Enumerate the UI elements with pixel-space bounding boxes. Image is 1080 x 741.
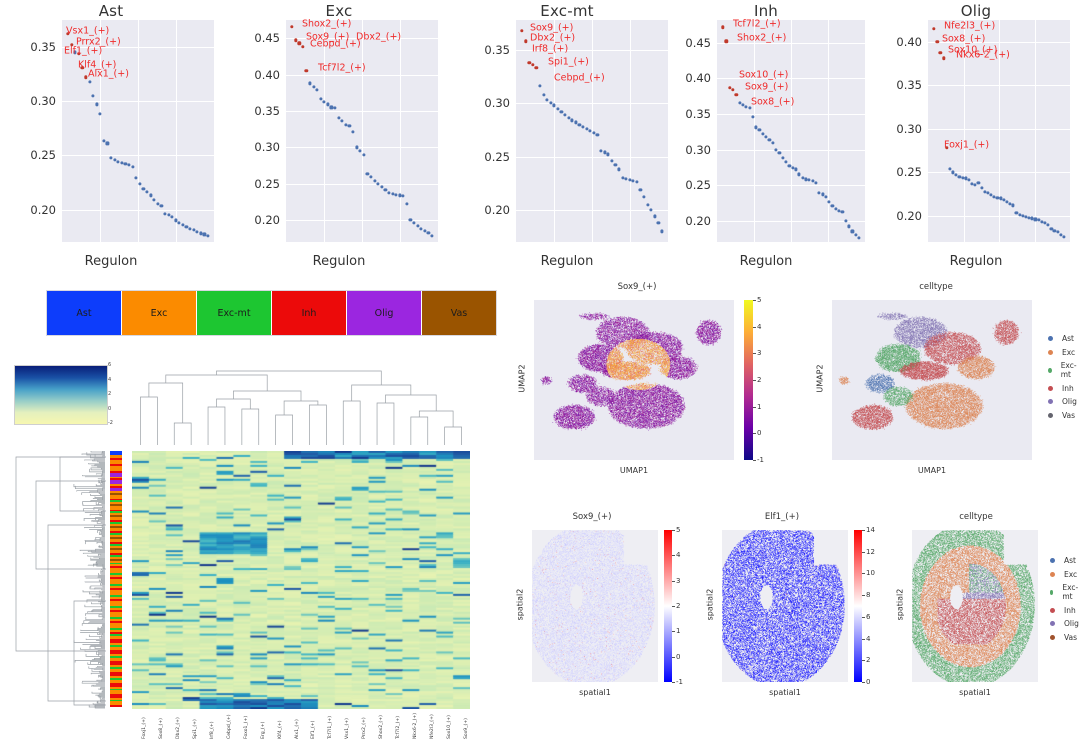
- regulon-point: [758, 129, 761, 132]
- celltype-swatch-exc-mt: Exc-mt: [197, 291, 272, 335]
- regulon-point: [794, 168, 797, 171]
- regulon-point: [774, 148, 777, 151]
- colorbar-tick: 6: [862, 613, 870, 621]
- regulon-point: [1056, 230, 1059, 233]
- plot-title: Elf1_(+): [682, 512, 882, 522]
- colorbar-tick: 2: [672, 602, 680, 610]
- y-axis-label: UMAP2: [816, 361, 825, 397]
- legend-swatch-icon: [1048, 368, 1052, 373]
- colorbar-tick: 3: [753, 349, 761, 357]
- heatmap-column-label: Elf1_(+): [311, 721, 316, 739]
- legend-item-ast[interactable]: Ast: [1050, 556, 1080, 565]
- celltype-legend: AstExcExc-mtInhOligVas: [1048, 334, 1080, 424]
- gridline-v: [754, 20, 755, 242]
- plot-colorbar: 14121086420: [854, 530, 862, 682]
- regulon-label: Alx1_(+): [88, 69, 129, 80]
- y-tick-label: 0.25: [685, 178, 711, 192]
- y-tick-label: 0.35: [30, 40, 56, 54]
- legend-item-inh[interactable]: Inh: [1048, 384, 1080, 393]
- legend-label: Vas: [1062, 411, 1075, 420]
- regulon-label: Dbx2_(+): [530, 33, 575, 44]
- regulon-point: [1062, 235, 1065, 238]
- regulon-point: [171, 215, 174, 218]
- y-tick-label: 0.20: [685, 214, 711, 228]
- y-tick-label: 0.20: [30, 203, 56, 217]
- highlighted-regulon-point: [301, 45, 304, 48]
- heatmap-column-label: Foxo1_(+): [244, 716, 249, 739]
- x-axis-label: spatial1: [532, 688, 658, 697]
- celltype-swatch-label: Exc-mt: [217, 308, 250, 319]
- colorbar-gradient: [744, 300, 753, 460]
- regulon-point: [366, 173, 369, 176]
- plot-title: celltype: [872, 512, 1080, 522]
- rank-plot-title: Olig: [872, 2, 1080, 20]
- regulon-point: [844, 219, 847, 222]
- legend-label: Olig: [1064, 619, 1079, 628]
- colorbar-tick: -2: [108, 420, 113, 426]
- celltype-swatch-label: Olig: [375, 308, 394, 319]
- regulon-label: Sox10_(+): [739, 69, 788, 80]
- rank-plot-title: Inh: [655, 2, 877, 20]
- rank-plot-inh: InhTcf7l2_(+)Shox2_(+)Sox10_(+)Sox9_(+)S…: [655, 0, 877, 275]
- y-axis-label: spatial2: [516, 587, 525, 623]
- celltype-legend: AstExcExc-mtInhOligVas: [1050, 556, 1080, 646]
- y-tick-label: 0.30: [484, 96, 510, 110]
- gridline-v: [176, 20, 177, 242]
- regulon-point: [948, 167, 951, 170]
- colorbar-tick: 4: [672, 551, 680, 559]
- legend-label: Olig: [1062, 397, 1077, 406]
- legend-swatch-icon: [1048, 336, 1053, 341]
- x-axis-label: spatial1: [722, 688, 848, 697]
- colorbar-gradient: [664, 530, 672, 682]
- row-celltype-colorbar: [110, 451, 122, 709]
- colorbar-tick: 5: [753, 296, 761, 304]
- regulon-point: [149, 194, 152, 197]
- x-axis-label: Regulon: [0, 254, 222, 269]
- y-tick-label: 0.35: [685, 107, 711, 121]
- regulon-point: [380, 185, 383, 188]
- regulon-point: [607, 153, 610, 156]
- regulon-point: [326, 103, 329, 106]
- gridline-v: [828, 20, 829, 242]
- regulon-label: Spi1_(+): [548, 56, 589, 67]
- regulon-point: [814, 181, 817, 184]
- regulon-point: [138, 182, 141, 185]
- legend-swatch-icon: [1048, 413, 1053, 418]
- regulon-point: [553, 104, 556, 107]
- y-tick-label: 0.20: [896, 209, 922, 223]
- x-axis-label: Regulon: [456, 254, 678, 269]
- legend-swatch-icon: [1048, 350, 1053, 355]
- highlighted-regulon-point: [932, 27, 935, 30]
- regulon-point: [781, 156, 784, 159]
- legend-item-ast[interactable]: Ast: [1048, 334, 1080, 343]
- colorbar-tick: 0: [672, 653, 680, 661]
- heatmap-colorbar-ticks: 6420-2: [108, 365, 128, 423]
- column-dendrogram: [132, 369, 470, 445]
- colorbar-tick: 5: [672, 526, 680, 534]
- regulon-point: [308, 82, 311, 85]
- regulon-point: [841, 211, 844, 214]
- heatmap-column-label: Sox8_(+): [159, 718, 164, 739]
- regulon-point: [206, 234, 209, 237]
- y-tick-label: 0.35: [254, 104, 280, 118]
- colorbar-gradient: [854, 530, 862, 682]
- heatmap-column-label: Nkx6-2_(+): [413, 713, 418, 739]
- highlighted-regulon-point: [721, 25, 724, 28]
- legend-label: Ast: [1064, 556, 1076, 565]
- regulon-point: [967, 179, 970, 182]
- colorbar-tick: 1: [753, 403, 761, 411]
- regulon-point: [765, 135, 768, 138]
- legend-item-exc-mt[interactable]: Exc-mt: [1048, 361, 1080, 379]
- legend-swatch-icon: [1050, 590, 1053, 595]
- heatmap-column-label: Foxj1_(+): [142, 717, 147, 739]
- regulon-point: [646, 203, 649, 206]
- regulon-point: [798, 173, 801, 176]
- regulon-point: [316, 88, 319, 91]
- regulon-label: Cebpd_(+): [554, 73, 605, 84]
- regulon-point: [828, 201, 831, 204]
- regulon-point: [556, 107, 559, 110]
- heatmap-column-label: Tcf7l1_(+): [328, 716, 333, 739]
- rank-plot-ast: AstVsx1_(+)Prrx2_(+)Elf1_(+)Klf4_(+)Alx1…: [0, 0, 222, 275]
- legend-swatch-icon: [1050, 558, 1055, 563]
- y-tick-label: 0.30: [254, 140, 280, 154]
- heatmap-column-label: Dbx2_(+): [176, 717, 181, 739]
- regulon-point: [409, 219, 412, 222]
- y-tick-label: 0.35: [896, 78, 922, 92]
- y-tick-label: 0.25: [30, 148, 56, 162]
- legend-item-vas[interactable]: Vas: [1050, 633, 1080, 642]
- rank-plot-title: Exc-mt: [456, 2, 678, 20]
- colorbar-tick: 4: [108, 377, 111, 383]
- regulon-point: [857, 236, 860, 239]
- rank-plot-title: Ast: [0, 2, 222, 20]
- regulon-point: [1047, 223, 1050, 226]
- legend-label: Exc: [1062, 348, 1075, 357]
- heatmap-column-label: Alx1_(+): [295, 719, 300, 739]
- gridline-v: [362, 20, 363, 242]
- heatmap-column-label: Tcf7l2_(+): [396, 716, 401, 739]
- celltype-swatch-label: Inh: [302, 308, 317, 319]
- row-dendrogram: [14, 451, 106, 709]
- colorbar-tick: 4: [753, 323, 761, 331]
- regulon-label: Sox8_(+): [751, 96, 794, 107]
- regulon-point: [851, 230, 854, 233]
- highlighted-regulon-point: [935, 40, 938, 43]
- regulon-point: [412, 221, 415, 224]
- rank-plot-axes: Nfe2l3_(+)Sox8_(+)Sox10_(+)Nkx6-2_(+)Fox…: [928, 20, 1070, 242]
- umap-panel-sox9: Sox9_(+)UMAP2UMAP1543210-1: [492, 282, 782, 487]
- regulon-point: [362, 153, 365, 156]
- regulon-point: [95, 103, 98, 106]
- celltype-swatch-exc: Exc: [122, 291, 197, 335]
- legend-label: Exc-mt: [1062, 583, 1080, 601]
- regulon-label: Vsx1_(+): [66, 26, 109, 37]
- heatmap-colorbar: [14, 365, 108, 425]
- gridline-v: [324, 20, 325, 242]
- heatmap-column-label: Vsx1_(+): [345, 718, 350, 739]
- regulon-label: Foxj1_(+): [944, 139, 989, 150]
- legend-item-olig[interactable]: Olig: [1050, 619, 1080, 628]
- colorbar-tick: 2: [753, 376, 761, 384]
- gridline-v: [791, 20, 792, 242]
- regulon-point: [369, 176, 372, 179]
- heatmap-column-label: Irf8_(+): [210, 721, 215, 739]
- regulon-label: Tcf7l2_(+): [318, 62, 366, 73]
- celltype-swatch-ast: Ast: [47, 291, 122, 335]
- regulon-label: Elf1_(+): [64, 45, 102, 56]
- x-axis-label: Regulon: [655, 254, 877, 269]
- legend-swatch-icon: [1050, 572, 1055, 577]
- legend-swatch-icon: [1048, 386, 1053, 391]
- celltype-swatch-inh: Inh: [272, 291, 347, 335]
- y-axis-label: spatial2: [896, 587, 905, 623]
- regulon-point: [405, 203, 408, 206]
- regulon-point: [88, 80, 91, 83]
- rank-plot-exc-mt: Exc-mtSox9_(+)Dbx2_(+)Irf8_(+)Spi1_(+)Ce…: [456, 0, 678, 275]
- heatmap-column-label: Sox9_(+): [464, 718, 469, 739]
- y-tick-label: 0.30: [896, 122, 922, 136]
- legend-item-vas[interactable]: Vas: [1048, 411, 1080, 420]
- y-tick-label: 0.20: [484, 203, 510, 217]
- x-axis-label: UMAP1: [534, 466, 734, 475]
- regulon-point: [355, 146, 358, 149]
- regulon-point: [430, 235, 433, 238]
- regulon-label: Sox8_(+): [942, 33, 985, 44]
- regulon-label: Sox9_(+): [530, 22, 573, 33]
- regulon-label: Tcf7l2_(+): [733, 19, 781, 30]
- y-tick-label: 0.25: [254, 177, 280, 191]
- regulon-label: Shox2_(+): [737, 33, 786, 44]
- colorbar-tick: 3: [672, 577, 680, 585]
- legend-item-olig[interactable]: Olig: [1048, 397, 1080, 406]
- regulon-point: [99, 113, 102, 116]
- regulon-point: [610, 159, 613, 162]
- regulon-point: [642, 196, 645, 199]
- regulon-point: [650, 208, 653, 211]
- legend-label: Vas: [1064, 633, 1077, 642]
- colorbar-tick: 2: [862, 656, 870, 664]
- rank-plot-axes: Tcf7l2_(+)Shox2_(+)Sox10_(+)Sox9_(+)Sox8…: [717, 20, 865, 242]
- gridline-v: [400, 20, 401, 242]
- colorbar-tick: 0: [862, 678, 870, 686]
- plot-canvas: [534, 300, 734, 460]
- highlighted-regulon-point: [305, 69, 308, 72]
- highlighted-regulon-point: [520, 29, 523, 32]
- regulon-point: [635, 181, 638, 184]
- gridline-v: [138, 20, 139, 242]
- heatmap-matrix: [132, 451, 470, 709]
- spatial-panel-celltype: celltypespatial2spatial1AstExcExc-mtInhO…: [872, 512, 1080, 717]
- regulon-point: [596, 134, 599, 137]
- x-axis-label: UMAP1: [832, 466, 1032, 475]
- regulon-point: [542, 93, 545, 96]
- regulon-point: [560, 110, 563, 113]
- regulon-label: Nfe2l3_(+): [944, 20, 995, 31]
- regulon-point: [337, 117, 340, 120]
- legend-swatch-icon: [1048, 399, 1053, 404]
- x-axis-label: Regulon: [872, 254, 1080, 269]
- regulon-label: Sox9_(+): [745, 81, 788, 92]
- heatmap-column-label: Sox10_(+): [447, 715, 452, 739]
- regulon-label: Nkx6-2_(+): [956, 50, 1010, 61]
- regulon-point: [771, 142, 774, 145]
- regulon-point: [784, 160, 787, 163]
- highlighted-regulon-point: [297, 42, 300, 45]
- celltype-swatch-label: Ast: [76, 308, 91, 319]
- row-color-cell: [110, 705, 122, 707]
- regulon-point: [427, 232, 430, 235]
- rank-plot-axes: Sox9_(+)Dbx2_(+)Irf8_(+)Spi1_(+)Cebpd_(+…: [516, 20, 668, 242]
- regulon-point: [131, 166, 134, 169]
- legend-item-exc[interactable]: Exc: [1050, 570, 1080, 579]
- y-tick-label: 0.30: [685, 143, 711, 157]
- heatmap-column-labels: Foxj1_(+)Sox8_(+)Dbx2_(+)Spi1_(+)Irf8_(+…: [132, 711, 470, 741]
- plot-canvas: [722, 530, 848, 682]
- regulon-point: [1012, 204, 1015, 207]
- y-tick-label: 0.35: [484, 43, 510, 57]
- legend-swatch-icon: [1050, 635, 1055, 640]
- regulon-label: Shox2_(+): [302, 18, 351, 29]
- y-tick-label: 0.25: [484, 150, 510, 164]
- regulon-point: [333, 106, 336, 109]
- regulon-point: [312, 85, 315, 88]
- y-axis-label: UMAP2: [518, 361, 527, 397]
- y-tick-label: 0.40: [685, 71, 711, 85]
- regulon-point: [538, 85, 541, 88]
- legend-label: Exc: [1064, 570, 1077, 579]
- regulon-point: [563, 113, 566, 116]
- plot-title: Sox9_(+): [492, 282, 782, 292]
- rank-plot-axes: Vsx1_(+)Prrx2_(+)Elf1_(+)Klf4_(+)Alx1_(+…: [62, 20, 214, 242]
- regulon-point: [348, 125, 351, 128]
- legend-label: Exc-mt: [1061, 361, 1080, 379]
- colorbar-tick: 8: [862, 591, 870, 599]
- legend-label: Inh: [1062, 384, 1074, 393]
- plot-canvas: [832, 300, 1032, 460]
- plot-colorbar: 543210-1: [744, 300, 753, 460]
- umap-panel-celltype: celltypeUMAP2UMAP1AstExcExc-mtInhOligVas: [792, 282, 1080, 487]
- highlighted-regulon-point: [735, 93, 738, 96]
- colorbar-tick: 0: [108, 406, 111, 412]
- regulon-point: [384, 188, 387, 191]
- legend-label: Inh: [1064, 606, 1076, 615]
- regulon-point: [106, 142, 109, 145]
- legend-item-exc[interactable]: Exc: [1048, 348, 1080, 357]
- regulon-point: [824, 196, 827, 199]
- colorbar-tick: 1: [672, 627, 680, 635]
- celltype-swatch-olig: Olig: [347, 291, 422, 335]
- legend-swatch-icon: [1050, 621, 1055, 626]
- colorbar-tick: -1: [753, 456, 764, 464]
- regulon-point: [341, 120, 344, 123]
- regulon-point: [145, 191, 148, 194]
- colorbar-tick: 6: [108, 362, 111, 368]
- regulon-point: [373, 179, 376, 182]
- regulon-point: [546, 98, 549, 101]
- y-tick-label: 0.40: [896, 35, 922, 49]
- legend-label: Ast: [1062, 334, 1074, 343]
- legend-swatch-icon: [1050, 608, 1055, 613]
- regulon-point: [92, 94, 95, 97]
- plot-colorbar: 543210-1: [664, 530, 672, 682]
- regulon-point: [980, 186, 983, 189]
- x-axis-label: Regulon: [228, 254, 450, 269]
- regulon-point: [351, 130, 354, 133]
- celltype-swatch-vas: Vas: [422, 291, 496, 335]
- gridline-v: [1035, 20, 1036, 242]
- regulon-label: Dbx2_(+): [356, 32, 401, 43]
- celltype-swatch-label: Vas: [451, 308, 468, 319]
- highlighted-regulon-point: [524, 40, 527, 43]
- regulon-point: [377, 182, 380, 185]
- regulon-point: [614, 164, 617, 167]
- colorbar-tick: 0: [753, 429, 761, 437]
- heatmap-column-label: Klf4_(+): [278, 720, 283, 739]
- legend-item-exc-mt[interactable]: Exc-mt: [1050, 583, 1080, 601]
- regulon-point: [617, 168, 620, 171]
- spatial-panel-sox9: Sox9_(+)spatial2spatial1543210-1: [492, 512, 692, 717]
- colorbar-tick: 2: [108, 391, 111, 397]
- highlighted-regulon-point: [535, 66, 538, 69]
- colorbar-tick: 4: [862, 635, 870, 643]
- y-tick-label: 0.40: [254, 68, 280, 82]
- regulon-point: [319, 97, 322, 100]
- highlighted-regulon-point: [290, 25, 293, 28]
- heatmap-column-label: Prrx2_(+): [362, 717, 367, 739]
- regulon-clustermap: 6420-2Foxj1_(+)Sox8_(+)Dbx2_(+)Spi1_(+)I…: [0, 355, 480, 720]
- heatmap-column-label: Spi1_(+): [193, 719, 198, 739]
- heatmap-column-label: Cebpd_(+): [227, 714, 232, 739]
- regulon-point: [160, 205, 163, 208]
- regulon-point: [416, 224, 419, 227]
- regulon-point: [142, 187, 145, 190]
- heatmap-column-label: Shox2_(+): [379, 715, 384, 739]
- rank-plot-exc: ExcShox2_(+)Sox9_(+)Dbx2_(+)Cebpd_(+)Tcf…: [228, 0, 450, 275]
- legend-item-inh[interactable]: Inh: [1050, 606, 1080, 615]
- regulon-label: Irf8_(+): [532, 43, 568, 54]
- heatmap-column-label: Nfe2l3_(+): [430, 714, 435, 739]
- regulon-point: [153, 198, 156, 201]
- regulon-point: [977, 181, 980, 184]
- y-tick-label: 0.25: [896, 165, 922, 179]
- celltype-swatch-label: Exc: [151, 308, 168, 319]
- regulon-label: Cebpd_(+): [310, 38, 361, 49]
- y-tick-label: 0.30: [30, 94, 56, 108]
- plot-title: Sox9_(+): [492, 512, 692, 522]
- regulon-point: [402, 195, 405, 198]
- highlighted-regulon-point: [939, 51, 942, 54]
- y-axis-label: spatial2: [706, 587, 715, 623]
- y-tick-label: 0.45: [685, 36, 711, 50]
- x-axis-label: spatial1: [912, 688, 1038, 697]
- plot-title: celltype: [792, 282, 1080, 292]
- rank-plot-axes: Shox2_(+)Sox9_(+)Dbx2_(+)Cebpd_(+)Tcf7l2…: [286, 20, 438, 242]
- gridline-v: [630, 20, 631, 242]
- y-tick-label: 0.20: [254, 213, 280, 227]
- highlighted-regulon-point: [942, 57, 945, 60]
- regulon-point: [847, 225, 850, 228]
- celltype-color-legend-strip: AstExcExc-mtInhOligVas: [46, 290, 497, 336]
- plot-canvas: [912, 530, 1038, 682]
- heatmap-column-label: Erg_(+): [261, 722, 266, 739]
- regulon-point: [639, 188, 642, 191]
- plot-canvas: [532, 530, 658, 682]
- regulon-point: [778, 151, 781, 154]
